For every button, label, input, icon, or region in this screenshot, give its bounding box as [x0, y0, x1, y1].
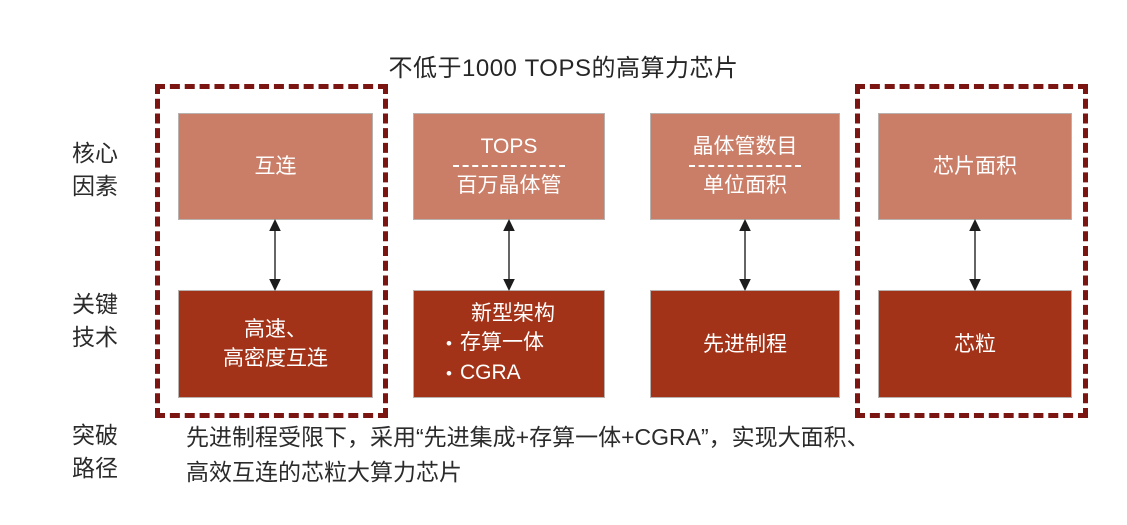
key-tech-label-interconnect-line2: 高密度互连 — [223, 344, 328, 373]
core-factor-box-transistor-density: 晶体管数目 单位面积 — [650, 113, 840, 220]
key-tech-box-advanced-process: 先进制程 — [650, 290, 840, 398]
double-headed-vertical-arrow-icon — [737, 219, 753, 291]
breakthrough-path-line1: 先进制程受限下，采用“先进集成+存算一体+CGRA”，实现大面积、 — [186, 420, 1086, 455]
breakthrough-path-text: 先进制程受限下，采用“先进集成+存算一体+CGRA”，实现大面积、 高效互连的芯… — [186, 420, 1086, 490]
fraction-denominator-million-transistors: 百万晶体管 — [457, 171, 562, 201]
fraction-denominator-unit-area: 单位面积 — [703, 171, 787, 201]
core-factor-box-interconnect: 互连 — [178, 113, 373, 220]
row-label-path-line1: 突破 — [72, 419, 158, 452]
bullet-list-header: 新型架构 — [438, 300, 604, 328]
bullet-dot-icon: • — [438, 359, 460, 388]
breakthrough-path-line2: 高效互连的芯粒大算力芯片 — [186, 455, 1086, 490]
diagram-title: 不低于1000 TOPS的高算力芯片 — [0, 48, 1127, 83]
row-label-breakthrough-path: 突破 路径 — [72, 419, 158, 485]
bullet-item-label-cgra: CGRA — [460, 358, 521, 387]
bullet-list-new-architecture: 新型架构 • 存算一体 • CGRA — [414, 300, 604, 388]
fraction-tops-per-transistor: TOPS 百万晶体管 — [453, 132, 565, 201]
double-headed-vertical-arrow-icon — [501, 219, 517, 291]
bullet-item-label-compute-in-memory: 存算一体 — [460, 328, 544, 357]
core-factor-label-interconnect: 互连 — [255, 152, 297, 181]
row-label-key-line1: 关键 — [72, 288, 158, 321]
fraction-numerator-transistor-count: 晶体管数目 — [693, 132, 798, 162]
key-tech-box-new-architecture: 新型架构 • 存算一体 • CGRA — [413, 290, 605, 398]
key-tech-label-chiplet: 芯粒 — [954, 330, 996, 359]
key-tech-label-advanced-process: 先进制程 — [703, 330, 787, 359]
core-factor-box-die-area: 芯片面积 — [878, 113, 1072, 220]
row-label-core-line2: 因素 — [72, 170, 158, 203]
fraction-divider-line — [453, 165, 565, 167]
row-label-core-factors: 核心 因素 — [72, 137, 158, 203]
fraction-divider-line — [689, 165, 801, 167]
double-headed-vertical-arrow-icon — [967, 219, 983, 291]
fraction-transistor-density: 晶体管数目 单位面积 — [689, 132, 801, 201]
bullet-item-compute-in-memory: • 存算一体 — [438, 328, 544, 358]
row-label-key-line2: 技术 — [72, 321, 158, 354]
row-label-core-line1: 核心 — [72, 137, 158, 170]
key-tech-label-interconnect-line1: 高速、 — [244, 315, 307, 344]
key-tech-box-chiplet: 芯粒 — [878, 290, 1072, 398]
diagram-canvas: 不低于1000 TOPS的高算力芯片 核心 因素 关键 技术 突破 路径 互连 … — [0, 0, 1127, 525]
fraction-numerator-tops: TOPS — [481, 132, 538, 162]
core-factor-label-die-area: 芯片面积 — [933, 152, 1017, 181]
row-label-key-technologies: 关键 技术 — [72, 288, 158, 354]
bullet-item-cgra: • CGRA — [438, 358, 521, 388]
key-tech-box-interconnect: 高速、 高密度互连 — [178, 290, 373, 398]
row-label-path-line2: 路径 — [72, 452, 158, 485]
core-factor-box-tops-per-transistor: TOPS 百万晶体管 — [413, 113, 605, 220]
double-headed-vertical-arrow-icon — [267, 219, 283, 291]
bullet-dot-icon: • — [438, 329, 460, 358]
